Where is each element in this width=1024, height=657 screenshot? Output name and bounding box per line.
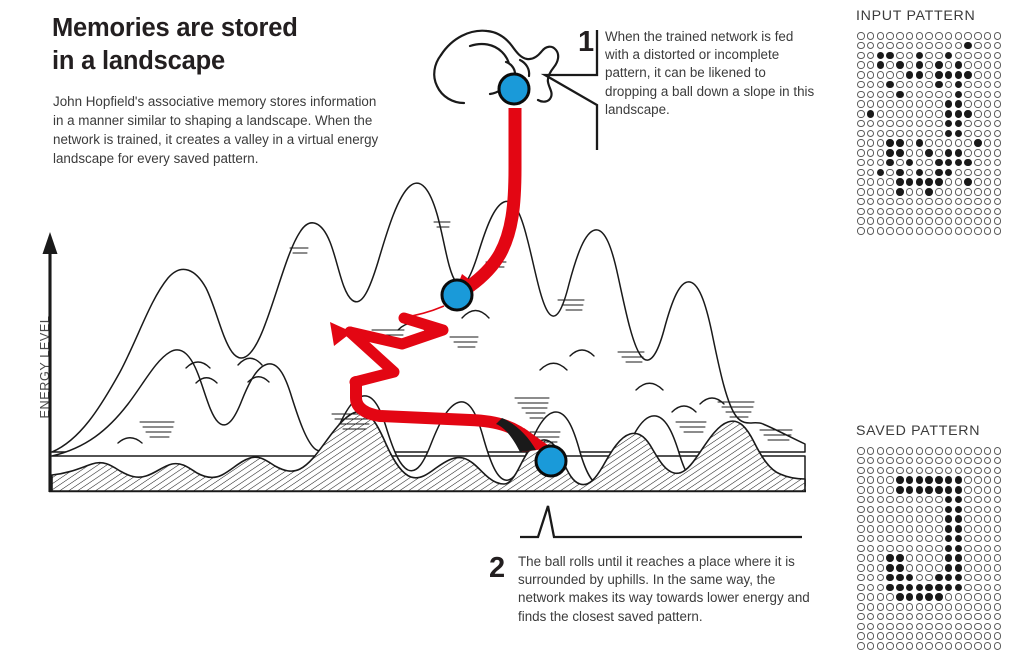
hand-illustration bbox=[434, 31, 558, 103]
ball-final bbox=[536, 446, 566, 476]
callout-2-leader-line bbox=[520, 506, 802, 537]
infographic-root: Memories are stored in a landscape John … bbox=[0, 0, 1024, 657]
ball-midway bbox=[442, 280, 472, 310]
energy-landscape-illustration bbox=[0, 0, 1024, 657]
y-axis-arrow-icon bbox=[43, 232, 58, 254]
ball-initial bbox=[499, 74, 529, 104]
